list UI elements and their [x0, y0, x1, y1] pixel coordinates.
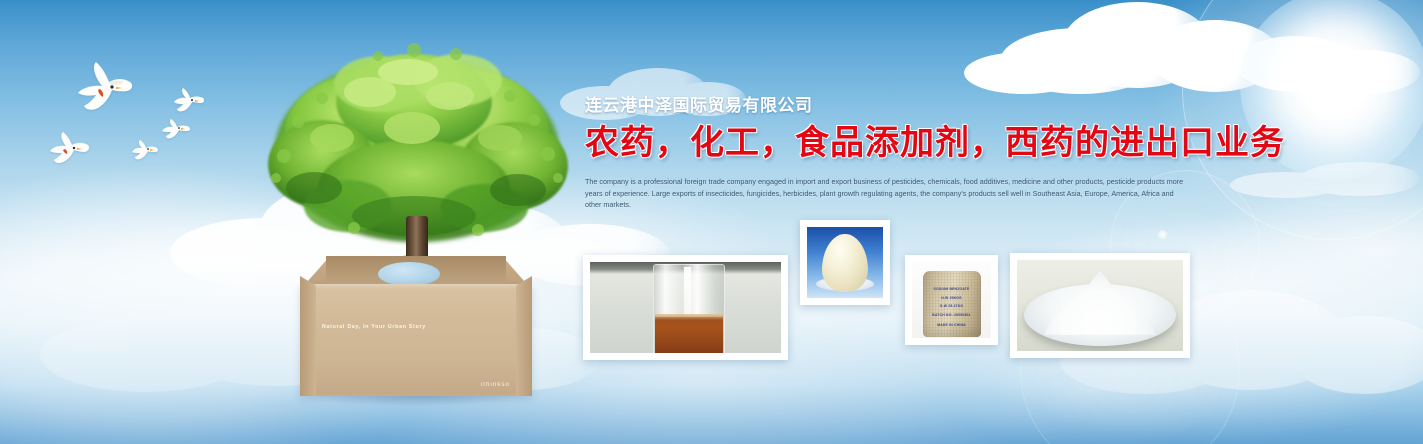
- box-edge-right: [516, 276, 532, 396]
- promo-banner: Natural Day, In Your Urban Story ithinks…: [0, 0, 1423, 444]
- photo-inner-bottle: [590, 262, 781, 353]
- box-edge-left: [300, 276, 316, 396]
- product-photo-woven-sack[interactable]: SODIUM BENZOATE N.W 25KGS G.W 25.27KG BA…: [905, 255, 998, 345]
- lens-flare-dot-1: [1158, 230, 1167, 239]
- glass-bottle-icon: [653, 264, 725, 353]
- headline-text-block: 连云港中泽国际贸易有限公司 农药，化工，食品添加剂，西药的进出口业务 The c…: [585, 96, 1205, 211]
- box-brand-text: ithinkso: [481, 382, 510, 388]
- woven-sack-icon: SODIUM BENZOATE N.W 25KGS G.W 25.27KG BA…: [923, 271, 981, 337]
- box-front-panel: [300, 284, 532, 396]
- bottle-amber-liquid: [655, 317, 723, 353]
- dove-icon-3: [172, 86, 208, 116]
- photo-inner-sack: SODIUM BENZOATE N.W 25KGS G.W 25.27KG BA…: [912, 262, 991, 338]
- sack-label-line4: BATCH NO: 20090801: [923, 313, 981, 317]
- photo-inner-heap: [807, 227, 883, 298]
- box-handle-hole: [378, 262, 440, 286]
- dove-icon-5: [130, 137, 162, 163]
- lens-flare-ring-1: [1182, 0, 1423, 240]
- product-photo-white-powder-dish[interactable]: [1010, 253, 1190, 358]
- company-name: 连云港中泽国际贸易有限公司: [585, 96, 1205, 116]
- product-photo-amber-liquid-bottle[interactable]: [583, 255, 788, 360]
- company-description: The company is a professional foreign tr…: [585, 176, 1185, 211]
- dove-icon-4: [160, 116, 194, 142]
- product-photo-cream-powder-heap[interactable]: [800, 220, 890, 305]
- dove-icon-2: [48, 130, 96, 168]
- photo-inner-dish: [1017, 260, 1183, 351]
- sack-label-line2: N.W 25KGS: [923, 296, 981, 300]
- sack-label-line1: SODIUM BENZOATE: [923, 287, 981, 291]
- tree-in-box-graphic: Natural Day, In Your Urban Story ithinks…: [262, 38, 572, 378]
- sack-label-line3: G.W 25.27KG: [923, 304, 981, 308]
- dove-icon-1: [72, 60, 146, 118]
- box-tagline-text: Natural Day, In Your Urban Story: [322, 324, 426, 330]
- cardboard-box: Natural Day, In Your Urban Story ithinks…: [300, 256, 532, 396]
- page-title: 农药，化工，食品添加剂，西药的进出口业务: [585, 126, 1205, 162]
- sack-label-line5: MADE IN CHINA: [923, 323, 981, 327]
